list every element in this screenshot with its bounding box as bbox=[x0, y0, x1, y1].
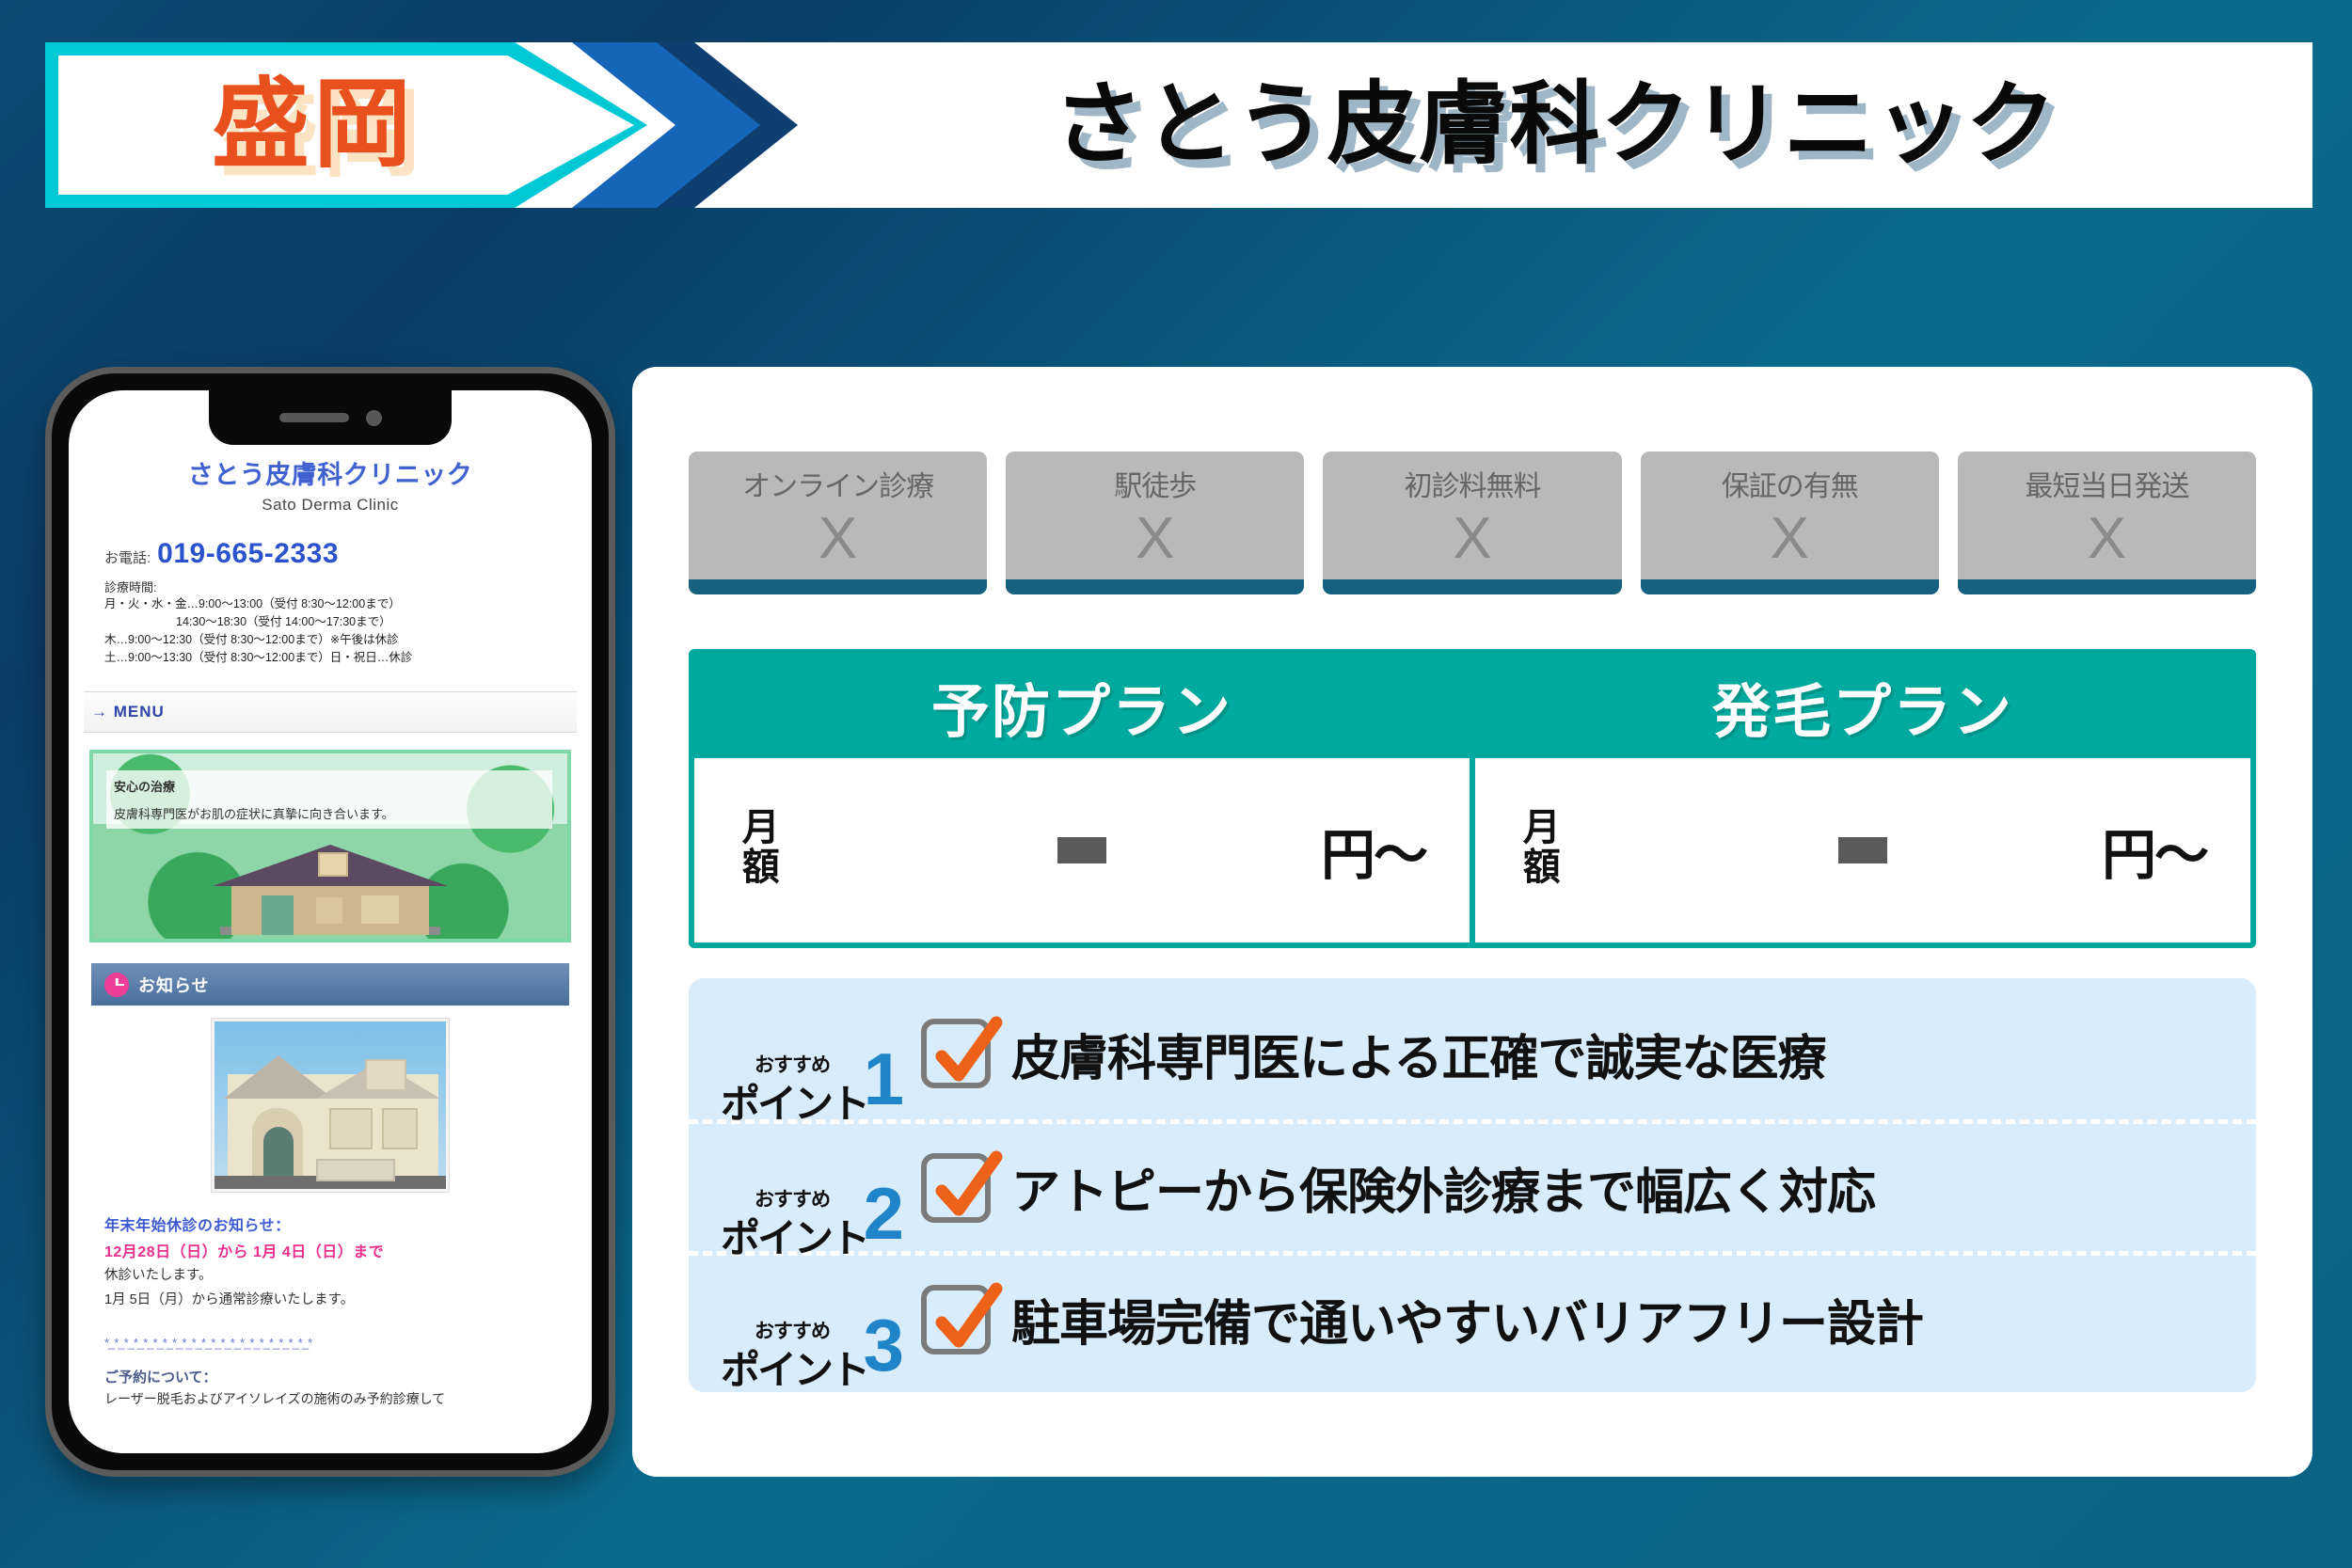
hero-caption-title: 安心の治療 bbox=[114, 777, 545, 795]
clinic-illustration bbox=[213, 845, 448, 935]
cross-mark-icon: X bbox=[689, 510, 987, 568]
speaker-icon bbox=[279, 413, 349, 422]
checkbox-checked-icon bbox=[921, 1019, 991, 1088]
point-text: アトピーから保険外診療まで幅広く対応 bbox=[1011, 1152, 1875, 1223]
camera-icon bbox=[366, 410, 382, 426]
site-hero-banner[interactable]: 安心の治療 皮膚科専門医がお肌の症状に真摯に向き合います。 bbox=[89, 750, 571, 942]
notice-body-2: 1月 5日（月）から通常診療いたします。 bbox=[104, 1290, 556, 1310]
cross-mark-icon: X bbox=[1323, 510, 1621, 568]
phone-screen: さとう皮膚科クリニック Sato Derma Clinic お電話: 019-6… bbox=[69, 390, 592, 1453]
feature-badge-foot bbox=[1641, 579, 1939, 594]
feature-badge-foot bbox=[1006, 579, 1304, 594]
notice-separator: *_*_*_*_*_*_*_*_*_*_*_*_*_*_*_*_*_*_*_*_… bbox=[104, 1336, 556, 1350]
site-content: さとう皮膚科クリニック Sato Derma Clinic お電話: 019-6… bbox=[69, 390, 592, 1409]
cross-mark-icon: X bbox=[1958, 510, 2256, 568]
feature-badge-body: 最短当日発送 X bbox=[1958, 451, 2256, 579]
site-clinic-name: さとう皮膚科クリニック bbox=[84, 454, 577, 491]
hours-line: 木…9:00〜12:30（受付 8:30〜12:00まで）※午後は休診 bbox=[104, 631, 577, 649]
region-label: 盛岡 bbox=[212, 76, 481, 174]
cross-mark-icon: X bbox=[1006, 510, 1304, 568]
feature-badge-body: オンライン診療 X bbox=[689, 451, 987, 579]
illustration-window bbox=[361, 895, 399, 924]
site-news-header: お知らせ bbox=[91, 963, 569, 1006]
feature-badge-label: 最短当日発送 bbox=[1958, 463, 2256, 504]
clock-icon bbox=[104, 973, 129, 997]
info-card: オンライン診療 X 駅徒歩 X 初診料無料 X 保証の有無 X bbox=[632, 367, 2312, 1477]
illustration-door bbox=[262, 895, 294, 935]
point-word-label: ポイント bbox=[721, 1338, 867, 1396]
plan-header: 予防プラン bbox=[694, 655, 1470, 758]
feature-badge: 保証の有無 X bbox=[1641, 451, 1939, 594]
recommended-points-panel: おすすめ ポイント 1 皮膚科専門医による正確で誠実な医療 おすすめ ポイント … bbox=[689, 978, 2256, 1392]
hero-caption-text: 皮膚科専門医がお肌の症状に真摯に向き合います。 bbox=[114, 804, 545, 822]
plan-monthly-label: 月額 bbox=[738, 807, 776, 894]
plan-price-unit: 円〜 bbox=[2102, 811, 2207, 890]
feature-badge-row: オンライン診療 X 駅徒歩 X 初診料無料 X 保証の有無 X bbox=[689, 451, 2256, 594]
hours-line: 14:30〜18:30（受付 14:00〜17:30まで） bbox=[104, 613, 577, 631]
hours-line: 月・火・水・金…9:00〜13:00（受付 8:30〜12:00まで） bbox=[104, 595, 577, 613]
photo-window bbox=[329, 1108, 373, 1149]
hero-caption: 安心の治療 皮膚科専門医がお肌の症状に真摯に向き合います。 bbox=[106, 770, 552, 829]
checkbox-checked-icon bbox=[921, 1285, 991, 1354]
plan-name: 予防プラン bbox=[931, 664, 1232, 749]
site-menu-button[interactable]: → MENU bbox=[84, 691, 577, 733]
point-number: 2 bbox=[864, 1177, 904, 1250]
site-clinic-name-en: Sato Derma Clinic bbox=[84, 496, 577, 515]
feature-badge-body: 保証の有無 X bbox=[1641, 451, 1939, 579]
point-row: おすすめ ポイント 2 アトピーから保険外診療まで幅広く対応 bbox=[689, 1119, 2256, 1251]
plan-name: 発毛プラン bbox=[1712, 664, 2013, 749]
feature-badge: 初診料無料 X bbox=[1323, 451, 1621, 594]
notice-body: 休診いたします。 bbox=[104, 1265, 556, 1286]
notice-title: 年末年始休診のお知らせ： bbox=[104, 1212, 556, 1235]
site-hours: 診療時間: 月・火・水・金…9:00〜13:00（受付 8:30〜12:00まで… bbox=[84, 578, 577, 667]
plan-price-redacted bbox=[1057, 837, 1106, 863]
plan-price-row: 月額 円〜 bbox=[1475, 758, 2250, 942]
illustration-dormer bbox=[318, 852, 348, 877]
feature-badge-label: 保証の有無 bbox=[1641, 463, 1939, 504]
illustration-window bbox=[316, 897, 342, 924]
feature-badge-foot bbox=[1323, 579, 1621, 594]
feature-badge-body: 駅徒歩 X bbox=[1006, 451, 1304, 579]
point-number: 3 bbox=[864, 1308, 904, 1382]
point-number: 1 bbox=[864, 1042, 904, 1116]
site-telephone[interactable]: お電話: 019-665-2333 bbox=[84, 538, 577, 570]
news-header-label: お知らせ bbox=[138, 973, 210, 997]
notice-dates: 12月28日（日）から 1月 4日（日）まで bbox=[104, 1239, 556, 1261]
point-row: おすすめ ポイント 3 駐車場完備で通いやすいバリアフリー設計 bbox=[689, 1251, 2256, 1383]
feature-badge-label: 駅徒歩 bbox=[1006, 463, 1304, 504]
header-banner: 盛岡 さとう皮膚科クリニック bbox=[45, 42, 2312, 208]
plan-price-table: 予防プラン 月額 円〜 発毛プラン 月額 円〜 bbox=[689, 649, 2256, 948]
feature-badge: オンライン診療 X bbox=[689, 451, 987, 594]
plan-column: 発毛プラン 月額 円〜 bbox=[1470, 655, 2250, 942]
feature-badge-body: 初診料無料 X bbox=[1323, 451, 1621, 579]
telephone-label: お電話: bbox=[104, 547, 151, 567]
point-word-label: ポイント bbox=[721, 1207, 867, 1264]
page-title: さとう皮膚科クリニック bbox=[798, 42, 2312, 208]
photo-dormer bbox=[365, 1059, 406, 1091]
plan-column: 予防プラン 月額 円〜 bbox=[694, 655, 1470, 942]
point-text: 駐車場完備で通いやすいバリアフリー設計 bbox=[1011, 1284, 1923, 1354]
plan-price-row: 月額 円〜 bbox=[694, 758, 1470, 942]
checkbox-checked-icon bbox=[921, 1153, 991, 1223]
point-row: おすすめ ポイント 1 皮膚科専門医による正確で誠実な医療 bbox=[689, 988, 2256, 1119]
hours-title: 診療時間: bbox=[104, 578, 577, 595]
cross-mark-icon: X bbox=[1641, 510, 1939, 568]
page-title-text: さとう皮膚科クリニック bbox=[1054, 80, 2058, 170]
reservation-text: レーザー脱毛およびアイソレイズの施術のみ予約診療して bbox=[104, 1389, 556, 1409]
feature-badge-label: オンライン診療 bbox=[689, 463, 987, 504]
photo-window bbox=[382, 1108, 418, 1149]
feature-badge-foot bbox=[689, 579, 987, 594]
phone-notch bbox=[209, 390, 452, 445]
feature-badge: 最短当日発送 X bbox=[1958, 451, 2256, 594]
phone-mockup: さとう皮膚科クリニック Sato Derma Clinic お電話: 019-6… bbox=[45, 367, 615, 1477]
hours-line: 土…9:00〜13:30（受付 8:30〜12:00まで）日・祝日…休診 bbox=[104, 649, 577, 667]
reservation-title: ご予約について： bbox=[104, 1367, 556, 1386]
photo-ramp bbox=[316, 1159, 395, 1181]
feature-badge-label: 初診料無料 bbox=[1323, 463, 1621, 504]
region-badge-inner: 盛岡 bbox=[58, 55, 634, 195]
plan-price-unit: 円〜 bbox=[1321, 811, 1426, 890]
photo-door bbox=[263, 1127, 294, 1176]
plan-monthly-label: 月額 bbox=[1518, 807, 1557, 894]
feature-badge-foot bbox=[1958, 579, 2256, 594]
feature-badge: 駅徒歩 X bbox=[1006, 451, 1304, 594]
clinic-photo bbox=[212, 1019, 449, 1192]
plan-header: 発毛プラン bbox=[1475, 655, 2250, 758]
plan-price-redacted bbox=[1838, 837, 1887, 863]
telephone-number[interactable]: 019-665-2333 bbox=[157, 538, 339, 570]
point-text: 皮膚科専門医による正確で誠実な医療 bbox=[1011, 1019, 1825, 1089]
point-word-label: ポイント bbox=[721, 1072, 867, 1130]
site-notice: 年末年始休診のお知らせ： 12月28日（日）から 1月 4日（日）まで 休診いた… bbox=[84, 1192, 577, 1409]
